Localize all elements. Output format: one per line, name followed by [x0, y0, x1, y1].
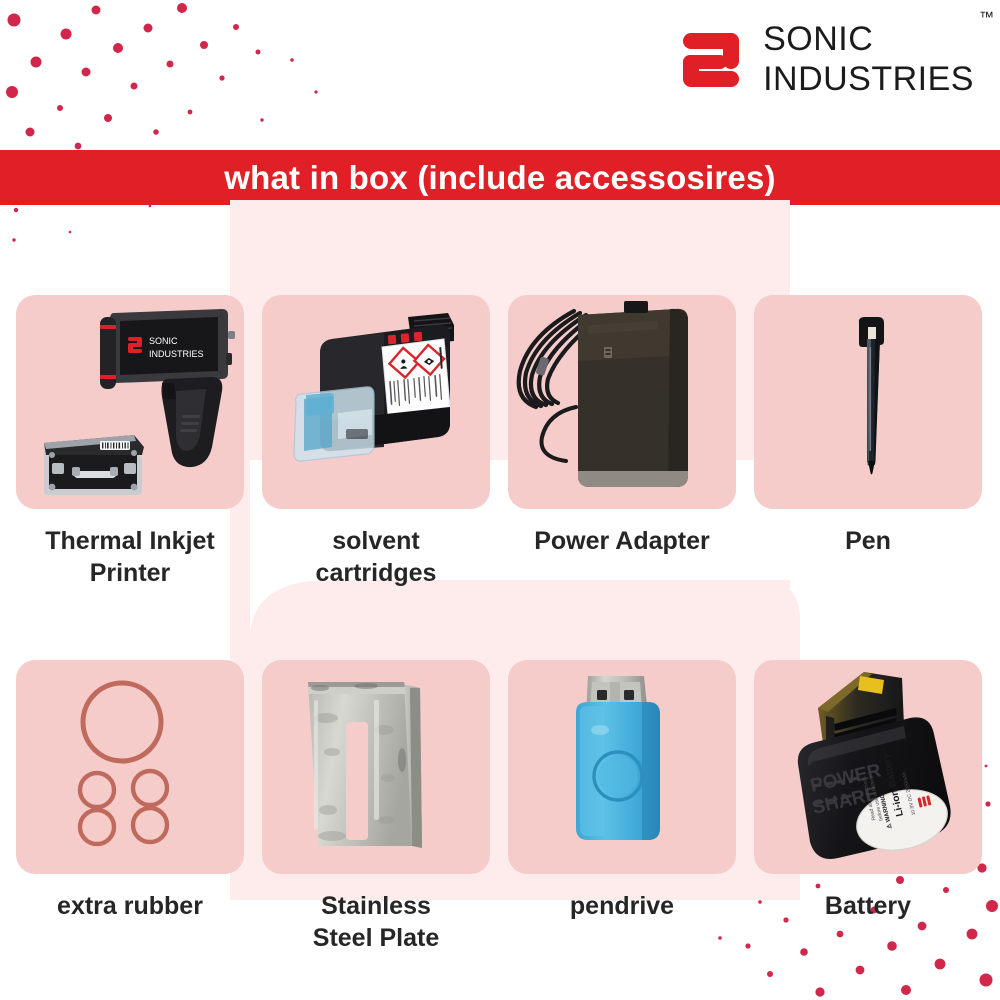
power-adapter-brick-with-cable-icon: [508, 295, 736, 509]
li-ion-battery-pack-icon: POWER SHARE Li-ion Battery 10.8V DC 2000…: [754, 660, 982, 874]
product-label: Battery: [754, 890, 982, 922]
product-image-frame: [16, 660, 244, 874]
svg-text:SONIC: SONIC: [149, 336, 178, 346]
product-card-extra-rubber[interactable]: extra rubber: [16, 660, 244, 922]
product-card-thermal-inkjet-printer[interactable]: SONIC INDUSTRIES: [16, 295, 244, 589]
product-image-frame: [508, 295, 736, 509]
rubber-o-rings-icon: [16, 660, 244, 874]
stylus-pen-icon: [754, 295, 982, 509]
product-image-frame: SONIC INDUSTRIES: [16, 295, 244, 509]
product-label: extra rubber: [16, 890, 244, 922]
product-card-stainless-steel-plate[interactable]: Stainless Steel Plate: [262, 660, 490, 954]
usb-flash-drive-icon: [508, 660, 736, 874]
product-label: Thermal Inkjet Printer: [16, 525, 244, 589]
ink-cartridge-with-hazard-label-icon: [262, 295, 490, 509]
product-label: Stainless Steel Plate: [262, 890, 490, 954]
product-image-frame: [754, 295, 982, 509]
product-image-frame: POWER SHARE Li-ion Battery 10.8V DC 2000…: [754, 660, 982, 874]
product-image-frame: [508, 660, 736, 874]
handheld-printer-with-case-icon: SONIC INDUSTRIES: [16, 295, 244, 509]
product-card-pendrive[interactable]: pendrive: [508, 660, 736, 922]
product-card-solvent-cartridges[interactable]: solvent cartridges: [262, 295, 490, 589]
product-card-power-adapter[interactable]: Power Adapter: [508, 295, 736, 557]
product-label: pendrive: [508, 890, 736, 922]
product-image-frame: [262, 660, 490, 874]
steel-bracket-plate-with-slot-icon: [262, 660, 490, 874]
product-label: Power Adapter: [508, 525, 736, 557]
product-image-frame: [262, 295, 490, 509]
svg-text:INDUSTRIES: INDUSTRIES: [149, 349, 204, 359]
product-card-battery[interactable]: POWER SHARE Li-ion Battery 10.8V DC 2000…: [754, 660, 982, 922]
product-card-pen[interactable]: Pen: [754, 295, 982, 557]
product-label: Pen: [754, 525, 982, 557]
poster-canvas: SONIC™ INDUSTRIES what in box (include a…: [0, 0, 1000, 1000]
product-label: solvent cartridges: [262, 525, 490, 589]
product-grid: SONIC INDUSTRIES: [0, 0, 1000, 1000]
